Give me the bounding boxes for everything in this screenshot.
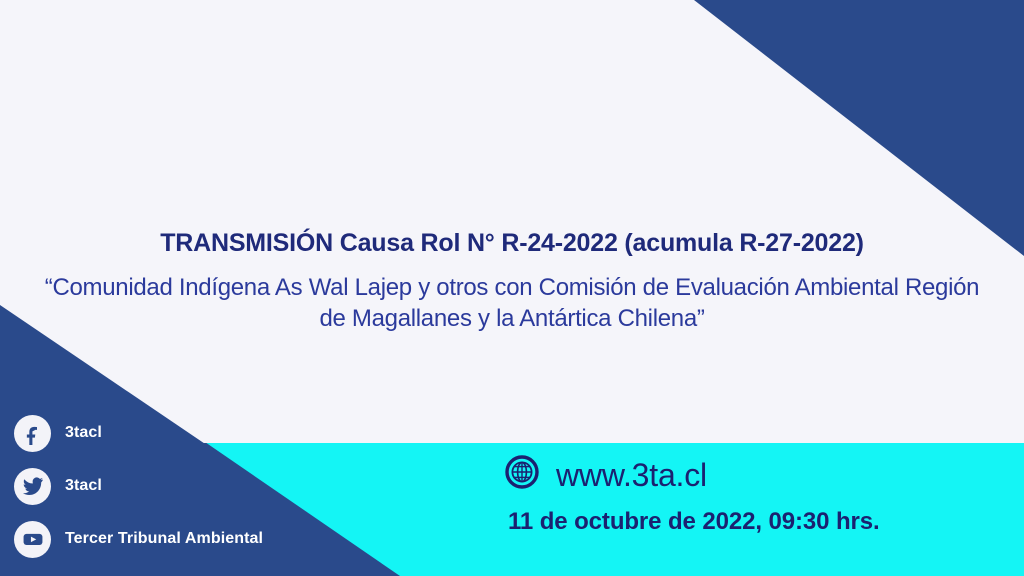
social-handle-youtube: Tercer Tribunal Ambiental	[65, 530, 263, 548]
social-item-youtube[interactable]: Tercer Tribunal Ambiental	[14, 520, 263, 558]
website-row[interactable]: www.3ta.cl	[505, 455, 880, 494]
social-item-facebook[interactable]: 3tacl	[14, 414, 263, 452]
website-and-date-block: www.3ta.cl 11 de octubre de 2022, 09:30 …	[505, 455, 880, 536]
facebook-icon	[14, 415, 51, 452]
social-links-list: 3tacl 3tacl Tercer Tribunal Ambiental	[14, 414, 263, 558]
youtube-icon	[14, 521, 51, 558]
social-item-twitter[interactable]: 3tacl	[14, 467, 263, 505]
social-handle-facebook: 3tacl	[65, 424, 102, 442]
headline-block: TRANSMISIÓN Causa Rol N° R-24-2022 (acum…	[0, 228, 1024, 334]
twitter-icon	[14, 468, 51, 505]
page-title: TRANSMISIÓN Causa Rol N° R-24-2022 (acum…	[0, 228, 1024, 258]
case-subtitle: “Comunidad Indígena As Wal Lajep y otros…	[37, 273, 987, 334]
event-datetime: 11 de octubre de 2022, 09:30 hrs.	[508, 508, 880, 536]
broadcast-announcement-slide: TRANSMISIÓN Causa Rol N° R-24-2022 (acum…	[0, 0, 1024, 576]
social-handle-twitter: 3tacl	[65, 477, 102, 495]
top-right-navy-triangle	[694, 0, 1024, 256]
globe-icon	[505, 455, 539, 494]
website-url[interactable]: www.3ta.cl	[556, 459, 707, 491]
